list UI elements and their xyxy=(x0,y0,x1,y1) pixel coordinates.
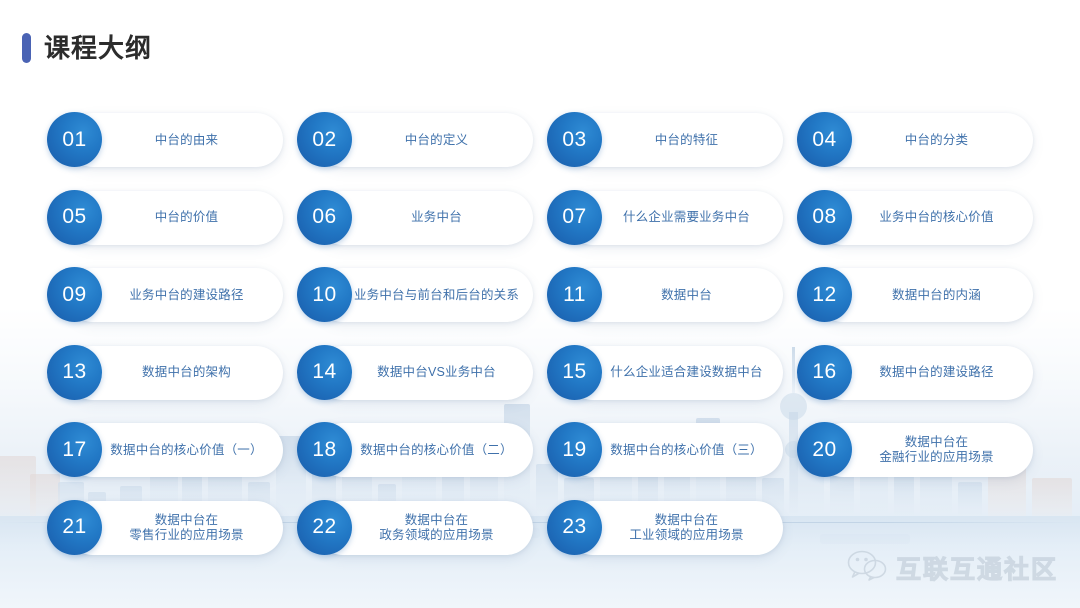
outline-item-number-badge: 23 xyxy=(547,500,602,555)
outline-item-number-badge: 21 xyxy=(47,500,102,555)
outline-item-label: 数据中台在 金融行业的应用场景 xyxy=(879,435,993,465)
outline-item-number-badge: 04 xyxy=(797,112,852,167)
outline-row: 业务中台的建设路径 09 业务中台与前台和后台的关系 10 数据中台 xyxy=(47,268,1047,346)
outline-cell: 什么企业适合建设数据中台 15 xyxy=(547,346,797,424)
outline-cell: 中台的价值 05 xyxy=(47,191,297,269)
outline-cell: 业务中台与前台和后台的关系 10 xyxy=(297,268,547,346)
outline-item-label: 数据中台的核心价值（二） xyxy=(360,443,512,458)
outline-item-label: 数据中台的核心价值（三） xyxy=(610,443,762,458)
outline-item-number-badge: 12 xyxy=(797,267,852,322)
outline-item-label: 业务中台的核心价值 xyxy=(879,210,993,225)
watermark: 互联互通社区 xyxy=(847,549,1058,586)
outline-item-number-badge: 15 xyxy=(547,345,602,400)
outline-cell: 数据中台在 零售行业的应用场景 21 xyxy=(47,501,297,579)
outline-item-18[interactable]: 数据中台的核心价值（二） 18 xyxy=(297,423,533,477)
page-title: 课程大纲 xyxy=(44,33,152,63)
outline-item-label: 业务中台 xyxy=(411,210,462,225)
outline-item-label: 中台的特征 xyxy=(655,133,719,148)
outline-cell: 业务中台的核心价值 08 xyxy=(797,191,1047,269)
outline-item-label: 数据中台的核心价值（一） xyxy=(110,443,262,458)
outline-cell: 数据中台的核心价值（一） 17 xyxy=(47,423,297,501)
outline-cell: 数据中台 11 xyxy=(547,268,797,346)
outline-item-label: 数据中台的内涵 xyxy=(892,288,981,303)
outline-item-label: 中台的由来 xyxy=(155,133,219,148)
outline-row: 数据中台的架构 13 数据中台VS业务中台 14 什么企业适合建设数据中台 xyxy=(47,346,1047,424)
outline-item-label: 中台的分类 xyxy=(905,133,969,148)
outline-item-number-badge: 09 xyxy=(47,267,102,322)
outline-item-number-badge: 07 xyxy=(547,190,602,245)
outline-item-label: 数据中台在 政务领域的应用场景 xyxy=(379,513,493,543)
outline-item-label: 数据中台 xyxy=(661,288,712,303)
outline-item-number-badge: 10 xyxy=(297,267,352,322)
outline-item-number-badge: 22 xyxy=(297,500,352,555)
outline-item-number-badge: 16 xyxy=(797,345,852,400)
outline-item-23[interactable]: 数据中台在 工业领域的应用场景 23 xyxy=(547,501,783,555)
outline-item-15[interactable]: 什么企业适合建设数据中台 15 xyxy=(547,346,783,400)
outline-item-03[interactable]: 中台的特征 03 xyxy=(547,113,783,167)
outline-item-16[interactable]: 数据中台的建设路径 16 xyxy=(797,346,1033,400)
outline-item-13[interactable]: 数据中台的架构 13 xyxy=(47,346,283,400)
outline-item-label: 中台的定义 xyxy=(405,133,469,148)
outline-item-04[interactable]: 中台的分类 04 xyxy=(797,113,1033,167)
outline-item-09[interactable]: 业务中台的建设路径 09 xyxy=(47,268,283,322)
outline-item-number-badge: 08 xyxy=(797,190,852,245)
outline-cell: 数据中台在 工业领域的应用场景 23 xyxy=(547,501,797,579)
outline-item-label: 数据中台在 工业领域的应用场景 xyxy=(629,513,743,543)
outline-item-label: 数据中台的建设路径 xyxy=(879,365,993,380)
outline-item-label: 业务中台的建设路径 xyxy=(129,288,243,303)
outline-item-label: 什么企业适合建设数据中台 xyxy=(610,365,762,380)
outline-item-14[interactable]: 数据中台VS业务中台 14 xyxy=(297,346,533,400)
slide-header: 课程大纲 xyxy=(22,33,152,63)
outline-item-02[interactable]: 中台的定义 02 xyxy=(297,113,533,167)
outline-item-22[interactable]: 数据中台在 政务领域的应用场景 22 xyxy=(297,501,533,555)
outline-item-06[interactable]: 业务中台 06 xyxy=(297,191,533,245)
outline-item-number-badge: 19 xyxy=(547,422,602,477)
outline-cell: 数据中台的核心价值（三） 19 xyxy=(547,423,797,501)
outline-cell: 数据中台VS业务中台 14 xyxy=(297,346,547,424)
wechat-icon xyxy=(847,549,887,586)
outline-cell: 中台的由来 01 xyxy=(47,113,297,191)
outline-item-number-badge: 13 xyxy=(47,345,102,400)
outline-cell: 中台的特征 03 xyxy=(547,113,797,191)
watermark-text: 互联互通社区 xyxy=(896,550,1058,586)
outline-item-11[interactable]: 数据中台 11 xyxy=(547,268,783,322)
slide-canvas: 课程大纲 中台的由来 01 中台的定义 02 xyxy=(0,0,1080,608)
outline-cell: 数据中台在 金融行业的应用场景 20 xyxy=(797,423,1047,501)
outline-item-19[interactable]: 数据中台的核心价值（三） 19 xyxy=(547,423,783,477)
outline-row: 数据中台的核心价值（一） 17 数据中台的核心价值（二） 18 数据中台的核心价… xyxy=(47,423,1047,501)
outline-item-label: 数据中台在 零售行业的应用场景 xyxy=(129,513,243,543)
outline-item-label: 中台的价值 xyxy=(155,210,219,225)
outline-item-number-badge: 02 xyxy=(297,112,352,167)
outline-item-label: 数据中台的架构 xyxy=(142,365,231,380)
outline-row: 中台的由来 01 中台的定义 02 中台的特征 03 xyxy=(47,113,1047,191)
outline-cell: 什么企业需要业务中台 07 xyxy=(547,191,797,269)
outline-cell: 数据中台的核心价值（二） 18 xyxy=(297,423,547,501)
outline-cell: 数据中台的建设路径 16 xyxy=(797,346,1047,424)
outline-item-label: 数据中台VS业务中台 xyxy=(377,365,496,380)
outline-item-number-badge: 03 xyxy=(547,112,602,167)
outline-item-number-badge: 17 xyxy=(47,422,102,477)
outline-item-01[interactable]: 中台的由来 01 xyxy=(47,113,283,167)
outline-grid: 中台的由来 01 中台的定义 02 中台的特征 03 xyxy=(47,113,1047,578)
outline-cell: 业务中台 06 xyxy=(297,191,547,269)
outline-item-number-badge: 01 xyxy=(47,112,102,167)
outline-item-20[interactable]: 数据中台在 金融行业的应用场景 20 xyxy=(797,423,1033,477)
outline-row: 中台的价值 05 业务中台 06 什么企业需要业务中台 xyxy=(47,191,1047,269)
title-accent-bar xyxy=(22,33,31,63)
outline-cell: 数据中台在 政务领域的应用场景 22 xyxy=(297,501,547,579)
outline-item-number-badge: 05 xyxy=(47,190,102,245)
outline-item-number-badge: 14 xyxy=(297,345,352,400)
outline-item-08[interactable]: 业务中台的核心价值 08 xyxy=(797,191,1033,245)
outline-cell: 中台的定义 02 xyxy=(297,113,547,191)
outline-item-number-badge: 18 xyxy=(297,422,352,477)
outline-cell: 中台的分类 04 xyxy=(797,113,1047,191)
outline-item-12[interactable]: 数据中台的内涵 12 xyxy=(797,268,1033,322)
outline-item-07[interactable]: 什么企业需要业务中台 07 xyxy=(547,191,783,245)
outline-item-number-badge: 06 xyxy=(297,190,352,245)
outline-item-number-badge: 11 xyxy=(547,267,602,322)
outline-item-label: 业务中台与前台和后台的关系 xyxy=(354,288,519,303)
outline-cell: 数据中台的内涵 12 xyxy=(797,268,1047,346)
outline-item-21[interactable]: 数据中台在 零售行业的应用场景 21 xyxy=(47,501,283,555)
outline-item-17[interactable]: 数据中台的核心价值（一） 17 xyxy=(47,423,283,477)
outline-item-10[interactable]: 业务中台与前台和后台的关系 10 xyxy=(297,268,533,322)
outline-cell: 业务中台的建设路径 09 xyxy=(47,268,297,346)
outline-item-number-badge: 20 xyxy=(797,422,852,477)
outline-item-label: 什么企业需要业务中台 xyxy=(623,210,750,225)
outline-cell: 数据中台的架构 13 xyxy=(47,346,297,424)
outline-item-05[interactable]: 中台的价值 05 xyxy=(47,191,283,245)
